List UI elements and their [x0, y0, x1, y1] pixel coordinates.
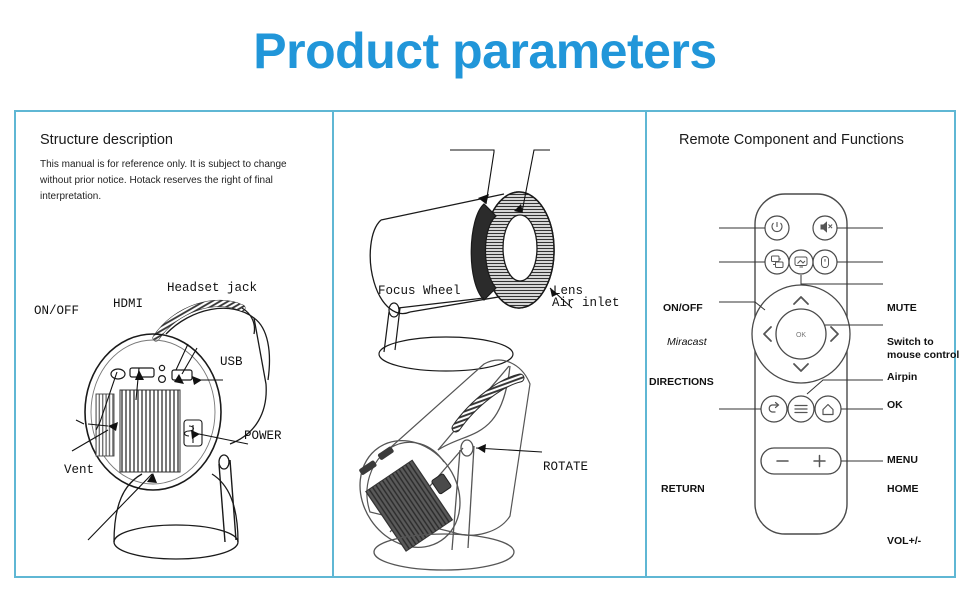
remote-label-airpin: Airpin: [887, 371, 917, 384]
ok-button-label: OK: [796, 332, 806, 339]
label-rotate: ROTATE: [543, 460, 588, 474]
remote-label-ok: OK: [887, 399, 903, 412]
remote-label-return: RETURN: [661, 483, 705, 496]
label-headset-jack: Headset jack: [167, 281, 257, 295]
remote-label-switch-mouse-line2: mouse control: [887, 349, 959, 362]
remote-label-mute: MUTE: [887, 302, 917, 315]
remote-label-switch-mouse-line1: Switch to: [887, 336, 934, 349]
projector-rear-diagram: [16, 112, 332, 580]
volume-rocker: [761, 448, 841, 474]
label-on-off: ON/OFF: [34, 304, 79, 318]
diagram-frame: Structure description This manual is for…: [14, 110, 956, 578]
projector-front-diagram: [334, 112, 645, 580]
remote-label-miracast: Miracast: [667, 336, 707, 349]
remote-label-home: HOME: [887, 483, 919, 496]
label-usb: USB: [220, 355, 243, 369]
label-air-inlet: Air inlet: [552, 296, 620, 310]
panel-projector-views: Focus Wheel Lens Air inlet ROTATE: [334, 112, 645, 576]
remote-label-on-off: ON/OFF: [663, 302, 703, 315]
panel-structure-description: Structure description This manual is for…: [16, 112, 332, 576]
label-vent: Vent: [64, 463, 94, 477]
panel-remote-functions: Remote Component and Functions: [647, 112, 954, 576]
remote-label-menu: MENU: [887, 454, 918, 467]
page-title: Product parameters: [0, 22, 970, 80]
label-hdmi: HDMI: [113, 297, 143, 311]
remote-label-directions: DIRECTIONS: [649, 376, 714, 389]
label-focus-wheel: Focus Wheel: [378, 284, 461, 298]
remote-label-vol: VOL+/-: [887, 535, 921, 548]
label-power: POWER: [244, 429, 282, 443]
